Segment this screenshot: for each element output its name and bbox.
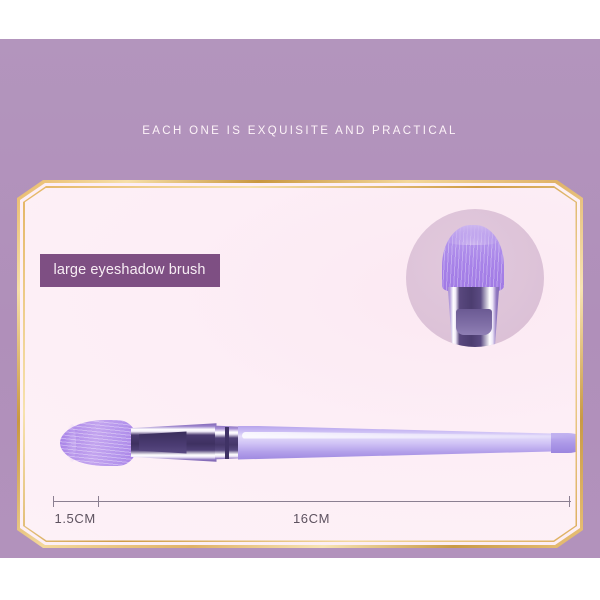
brush-collar-band xyxy=(225,427,229,459)
ruler-tick-ferrule xyxy=(98,496,99,507)
brush-ferrule-inner xyxy=(139,431,187,455)
measurement-label-total: 16CM xyxy=(293,511,330,526)
ruler-axis-line xyxy=(53,501,571,502)
measurement-label-ferrule: 1.5CM xyxy=(55,511,96,526)
gold-framed-card: large eyeshadow brush xyxy=(17,180,583,548)
product-name-badge: large eyeshadow brush xyxy=(40,254,220,288)
closeup-ferrule-inner xyxy=(456,309,492,335)
brush-bristles xyxy=(60,420,138,466)
card-inner-surface: large eyeshadow brush xyxy=(25,188,576,541)
brush-handle-body xyxy=(238,426,576,460)
product-banner-image: EACH ONE IS EXQUISITE AND PRACTICAL larg… xyxy=(0,0,600,600)
brush-head-closeup-circle xyxy=(406,209,544,347)
product-brush-illustration xyxy=(35,410,576,476)
measurement-ruler: 1.5CM 16CM xyxy=(53,493,571,527)
ruler-tick-end xyxy=(569,496,570,507)
ruler-tick-start xyxy=(53,496,54,507)
closeup-bristles xyxy=(442,225,504,291)
banner-headline: EACH ONE IS EXQUISITE AND PRACTICAL xyxy=(0,125,600,137)
brush-handle xyxy=(238,426,576,460)
